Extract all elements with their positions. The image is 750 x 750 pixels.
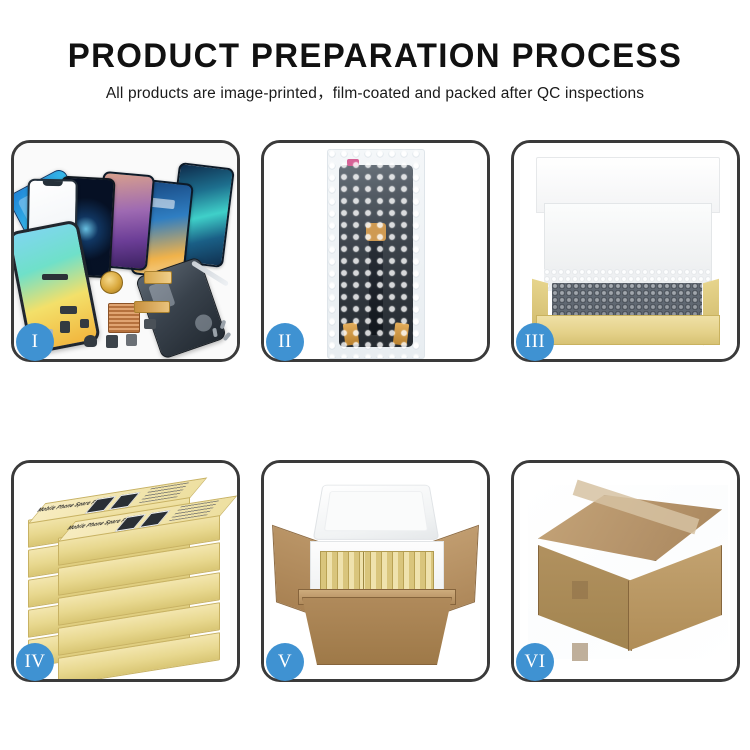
earpiece-part-graphic <box>42 274 68 280</box>
small-part-graphic-5 <box>106 335 118 348</box>
small-part-graphic-6 <box>126 334 137 346</box>
process-step-card-1[interactable]: I <box>11 140 240 362</box>
flex-cable-part-graphic-a <box>144 271 172 284</box>
screen-flex-cable-graphic <box>369 239 383 335</box>
small-part-graphic-1 <box>60 306 77 314</box>
foam-box-lid-graphic <box>313 485 440 540</box>
step-badge-1: I <box>16 323 54 361</box>
sealed-carton-right-face-graphic <box>628 545 722 651</box>
gold-coil-part-graphic <box>100 271 123 294</box>
small-part-graphic-4 <box>84 335 97 347</box>
step-5-image <box>264 463 487 679</box>
process-step-card-6[interactable]: VI <box>511 460 740 682</box>
small-part-graphic-7 <box>144 319 156 329</box>
inner-box-front-wall-graphic <box>536 315 720 345</box>
step-2-image <box>264 143 487 359</box>
page-header: PRODUCT PREPARATION PROCESS All products… <box>0 0 750 104</box>
grey-foam-insert-graphic <box>552 283 702 317</box>
step-badge-2: II <box>266 323 304 361</box>
page-subtitle: All products are image-printed，film-coat… <box>0 76 750 104</box>
carton-patch-graphic-2 <box>572 643 588 661</box>
step-badge-5: V <box>266 643 304 681</box>
gold-connector-graphic-1 <box>342 322 359 346</box>
carton-body-graphic <box>302 597 452 665</box>
process-step-grid: I II III <box>11 140 740 682</box>
step-4-image: Mobile Phone Spare Parts Mobile Phone Sp… <box>14 463 237 679</box>
small-part-graphic-3 <box>80 319 89 328</box>
flex-cable-part-graphic-b <box>134 301 170 313</box>
step-6-image <box>514 463 737 679</box>
packed-yellow-boxes-graphic <box>320 551 434 593</box>
step-badge-4: IV <box>16 643 54 681</box>
page-title: PRODUCT PREPARATION PROCESS <box>11 0 739 76</box>
step-badge-6: VI <box>516 643 554 681</box>
process-step-card-4[interactable]: Mobile Phone Spare Parts Mobile Phone Sp… <box>11 460 240 682</box>
process-step-card-3[interactable]: III <box>511 140 740 362</box>
process-step-card-2[interactable]: II <box>261 140 490 362</box>
process-step-card-5[interactable]: V <box>261 460 490 682</box>
carton-patch-graphic-1 <box>572 581 588 599</box>
gold-connector-graphic-2 <box>392 322 409 346</box>
small-part-graphic-2 <box>60 321 70 333</box>
step-badge-3: III <box>516 323 554 361</box>
step-3-image <box>514 143 737 359</box>
step-1-image <box>14 143 237 359</box>
